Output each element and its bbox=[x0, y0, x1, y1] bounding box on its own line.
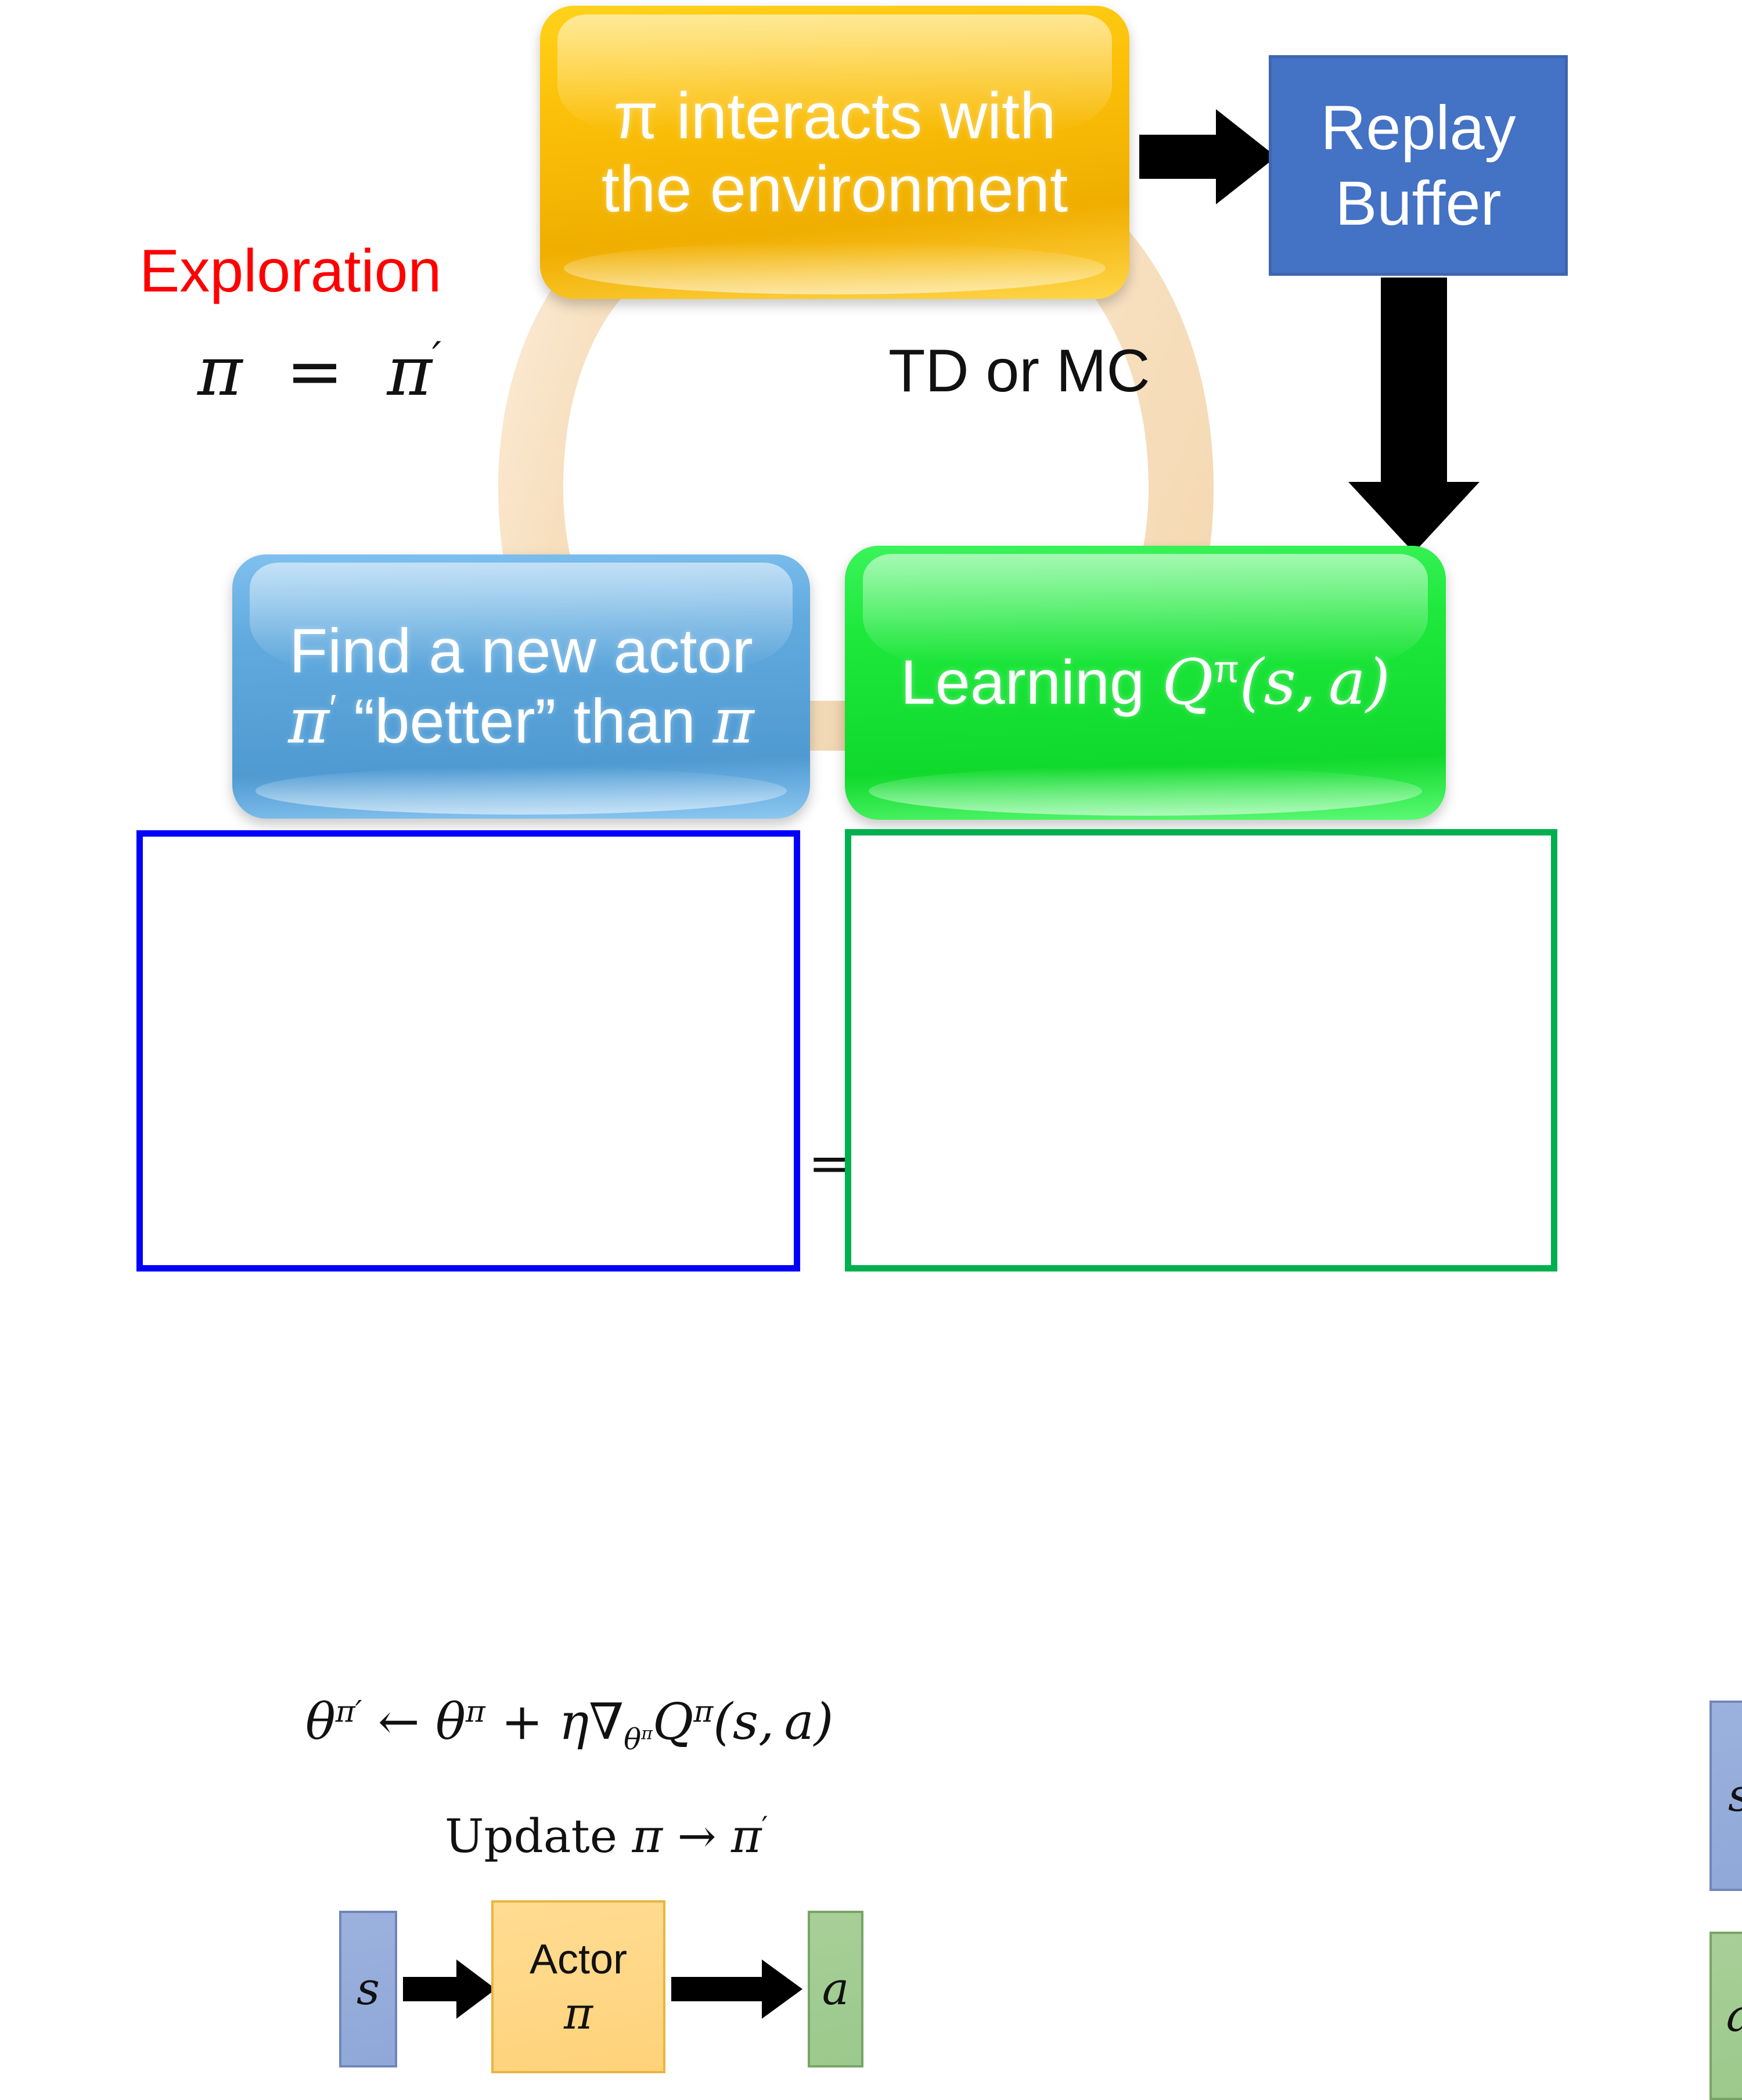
equals-symbol: = bbox=[264, 331, 365, 411]
actor-network-block: Actor π bbox=[491, 1900, 665, 2073]
env-to-replay-arrow bbox=[1139, 105, 1279, 209]
env-box-text: π interacts with the environment bbox=[602, 80, 1068, 225]
actor-state-input-block: s bbox=[339, 1911, 397, 2067]
actor-action-output-block: a bbox=[808, 1911, 863, 2067]
actor-box-line2: π′ “better” than π bbox=[288, 686, 754, 756]
critic-state-label: s bbox=[1728, 1770, 1742, 1822]
pi-prime-symbol: π′ bbox=[387, 331, 441, 411]
actor-state-label: s bbox=[357, 1963, 380, 2015]
actor-box-text: Find a new actor π′ “better” than π bbox=[288, 616, 754, 757]
critic-detail-panel: s a Qπ Qπ(s, a) bbox=[845, 829, 1557, 1271]
actor-to-action-arrow bbox=[671, 1957, 804, 2021]
replay-box-text: Replay Buffer bbox=[1320, 90, 1516, 240]
env-box-line1: π interacts with bbox=[614, 80, 1056, 152]
critic-action-input-block: a bbox=[1709, 1932, 1742, 2100]
critic-box-text: Learning Qπ(s, a) bbox=[901, 647, 1391, 718]
actor-update-rule: θπ′ ← θπ + η∇θπQπ(s, a) bbox=[305, 1693, 833, 1756]
policy-assignment-label: π = π′ bbox=[197, 331, 441, 411]
actor-network-name: Actor bbox=[530, 1936, 627, 1983]
critic-state-input-block: s bbox=[1709, 1701, 1742, 1891]
critic-action-label: a bbox=[1726, 1990, 1742, 2042]
find-new-actor-box[interactable]: Find a new actor π′ “better” than π bbox=[232, 554, 810, 819]
actor-update-caption: Update π → π′ bbox=[445, 1809, 768, 1863]
pi-symbol: π bbox=[197, 331, 243, 411]
actor-detail-panel: θπ′ ← θπ + η∇θπQπ(s, a) Update π → π′ s … bbox=[136, 830, 800, 1271]
env-box-line2: the environment bbox=[602, 153, 1068, 225]
learning-q-box[interactable]: Learning Qπ(s, a) bbox=[845, 546, 1446, 820]
exploration-label: Exploration bbox=[139, 237, 441, 306]
replay-buffer-box[interactable]: Replay Buffer bbox=[1269, 55, 1568, 276]
replay-to-critic-arrow bbox=[1341, 278, 1487, 555]
actor-network-text: Actor π bbox=[530, 1933, 627, 2041]
state-to-actor-arrow bbox=[403, 1957, 497, 2021]
actor-network-symbol: π bbox=[564, 1987, 593, 2039]
actor-box-line1: Find a new actor bbox=[289, 615, 753, 686]
replay-box-line1: Replay bbox=[1320, 92, 1516, 163]
replay-box-line2: Buffer bbox=[1335, 168, 1501, 238]
actor-action-label: a bbox=[822, 1963, 850, 2015]
diagram-canvas: π interacts with the environment Replay … bbox=[0, 0, 1742, 1306]
td-or-mc-label: TD or MC bbox=[888, 337, 1150, 406]
env-interaction-box[interactable]: π interacts with the environment bbox=[540, 6, 1129, 299]
